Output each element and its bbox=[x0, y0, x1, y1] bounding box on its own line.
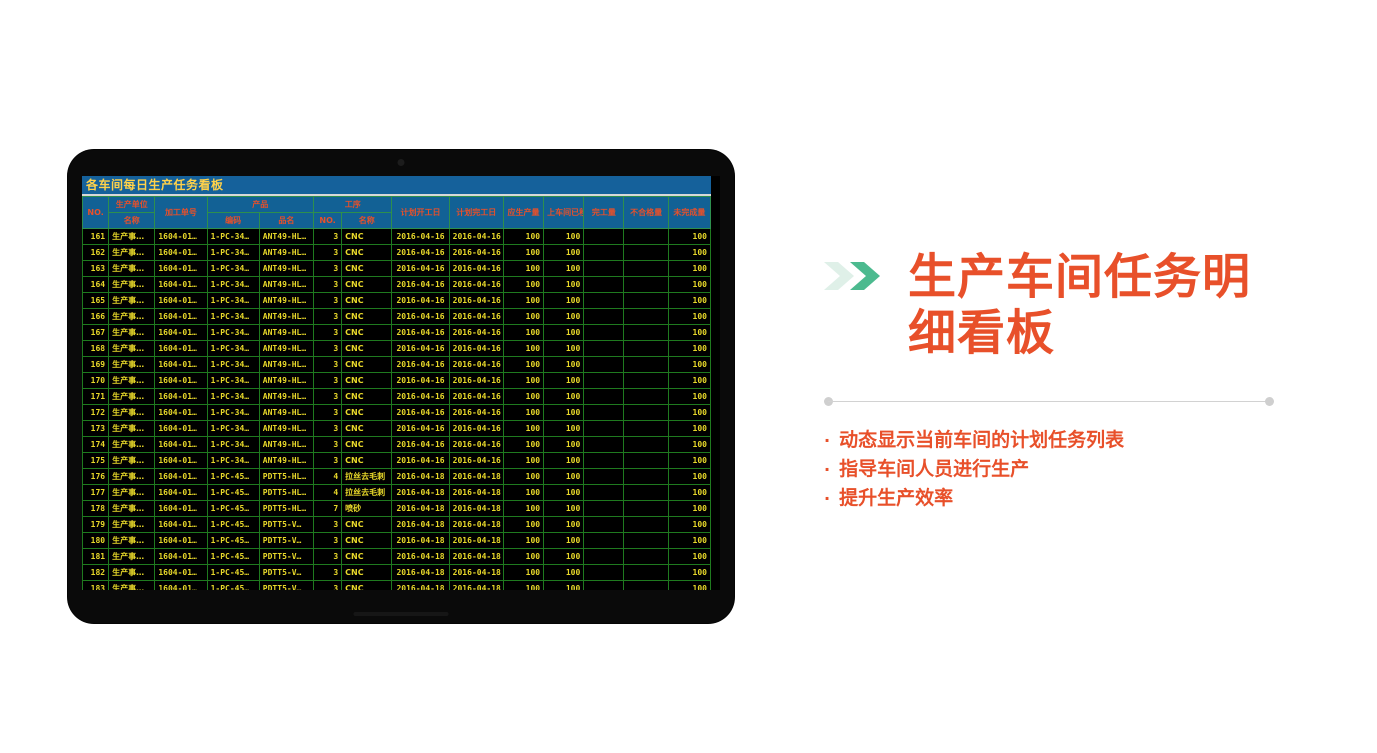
col-plan-end-date: 计划完工日 bbox=[449, 197, 503, 229]
cell-product-code: 1-PC-34… bbox=[207, 261, 259, 277]
list-item-label: 提升生产效率 bbox=[839, 484, 953, 513]
cell-no: 174 bbox=[83, 437, 109, 453]
cell-product-name: ANT49-HL… bbox=[259, 261, 313, 277]
cell-unit-name: 生产事… bbox=[109, 565, 155, 581]
cell-process-name: CNC bbox=[342, 341, 392, 357]
cell-product-code: 1-PC-34… bbox=[207, 453, 259, 469]
table-row[interactable]: 164生产事…1604-01…1-PC-34…ANT49-HL…3CNC2016… bbox=[83, 277, 711, 293]
cell-plan-end-date: 2016-04-16 bbox=[449, 341, 503, 357]
cell-completed-qty bbox=[584, 325, 624, 341]
cell-plan-end-date: 2016-04-16 bbox=[449, 357, 503, 373]
cell-planned-qty: 100 bbox=[503, 453, 543, 469]
cell-no: 179 bbox=[83, 517, 109, 533]
cell-unit-name: 生产事… bbox=[109, 389, 155, 405]
cell-product-name: ANT49-HL… bbox=[259, 325, 313, 341]
cell-defect-qty bbox=[624, 389, 668, 405]
cell-process-name: CNC bbox=[342, 325, 392, 341]
cell-transferred-qty: 100 bbox=[544, 421, 584, 437]
cell-plan-start-date: 2016-04-18 bbox=[392, 549, 449, 565]
camera-dot-icon bbox=[398, 159, 405, 166]
cell-unit-name: 生产事… bbox=[109, 533, 155, 549]
cell-unit-name: 生产事… bbox=[109, 229, 155, 245]
cell-product-code: 1-PC-34… bbox=[207, 309, 259, 325]
cell-unit-name: 生产事… bbox=[109, 293, 155, 309]
cell-no: 161 bbox=[83, 229, 109, 245]
kanban-app: 各车间每日生产任务看板 NO. 生产单位 加工单号 产品 工序 bbox=[82, 176, 711, 590]
cell-planned-qty: 100 bbox=[503, 421, 543, 437]
cell-process-no: 3 bbox=[314, 357, 342, 373]
cell-plan-end-date: 2016-04-18 bbox=[449, 517, 503, 533]
cell-remaining-qty: 100 bbox=[668, 453, 710, 469]
cell-transferred-qty: 100 bbox=[544, 357, 584, 373]
table-row[interactable]: 173生产事…1604-01…1-PC-34…ANT49-HL…3CNC2016… bbox=[83, 421, 711, 437]
cell-process-name: 喷砂 bbox=[342, 501, 392, 517]
cell-defect-qty bbox=[624, 245, 668, 261]
cell-process-name: CNC bbox=[342, 421, 392, 437]
cell-transferred-qty: 100 bbox=[544, 517, 584, 533]
cell-plan-end-date: 2016-04-18 bbox=[449, 485, 503, 501]
cell-plan-end-date: 2016-04-16 bbox=[449, 245, 503, 261]
cell-defect-qty bbox=[624, 261, 668, 277]
cell-transferred-qty: 100 bbox=[544, 485, 584, 501]
cell-transferred-qty: 100 bbox=[544, 549, 584, 565]
cell-remaining-qty: 100 bbox=[668, 245, 710, 261]
cell-unit-name: 生产事… bbox=[109, 341, 155, 357]
col-unit-group: 生产单位 bbox=[109, 197, 155, 213]
cell-process-no: 3 bbox=[314, 437, 342, 453]
cell-planned-qty: 100 bbox=[503, 245, 543, 261]
cell-unit-name: 生产事… bbox=[109, 373, 155, 389]
cell-plan-start-date: 2016-04-18 bbox=[392, 485, 449, 501]
cell-plan-end-date: 2016-04-16 bbox=[449, 229, 503, 245]
cell-plan-start-date: 2016-04-16 bbox=[392, 309, 449, 325]
table-row[interactable]: 166生产事…1604-01…1-PC-34…ANT49-HL…3CNC2016… bbox=[83, 309, 711, 325]
cell-completed-qty bbox=[584, 565, 624, 581]
cell-unit-name: 生产事… bbox=[109, 485, 155, 501]
cell-planned-qty: 100 bbox=[503, 341, 543, 357]
cell-transferred-qty: 100 bbox=[544, 453, 584, 469]
cell-plan-end-date: 2016-04-16 bbox=[449, 405, 503, 421]
cell-process-no: 3 bbox=[314, 373, 342, 389]
cell-planned-qty: 100 bbox=[503, 261, 543, 277]
cell-product-code: 1-PC-34… bbox=[207, 325, 259, 341]
cell-completed-qty bbox=[584, 373, 624, 389]
cell-no: 181 bbox=[83, 549, 109, 565]
cell-plan-start-date: 2016-04-16 bbox=[392, 373, 449, 389]
bullet-dot-icon: · bbox=[824, 458, 830, 482]
cell-completed-qty bbox=[584, 341, 624, 357]
list-item-label: 动态显示当前车间的计划任务列表 bbox=[839, 426, 1124, 455]
cell-plan-start-date: 2016-04-18 bbox=[392, 533, 449, 549]
cell-product-name: ANT49-HL… bbox=[259, 453, 313, 469]
cell-plan-start-date: 2016-04-18 bbox=[392, 517, 449, 533]
cell-defect-qty bbox=[624, 485, 668, 501]
cell-remaining-qty: 100 bbox=[668, 485, 710, 501]
cell-process-no: 3 bbox=[314, 229, 342, 245]
cell-transferred-qty: 100 bbox=[544, 581, 584, 591]
cell-no: 170 bbox=[83, 373, 109, 389]
cell-no: 176 bbox=[83, 469, 109, 485]
cell-plan-end-date: 2016-04-18 bbox=[449, 581, 503, 591]
cell-product-name: ANT49-HL… bbox=[259, 373, 313, 389]
tablet-device: 各车间每日生产任务看板 NO. 生产单位 加工单号 产品 工序 bbox=[68, 150, 734, 623]
cell-plan-start-date: 2016-04-18 bbox=[392, 469, 449, 485]
cell-work-order: 1604-01… bbox=[155, 437, 207, 453]
cell-planned-qty: 100 bbox=[503, 501, 543, 517]
table-row[interactable]: 172生产事…1604-01…1-PC-34…ANT49-HL…3CNC2016… bbox=[83, 405, 711, 421]
page-title: 生产车间任务明细看板 bbox=[908, 250, 1294, 361]
cell-transferred-qty: 100 bbox=[544, 437, 584, 453]
cell-completed-qty bbox=[584, 261, 624, 277]
cell-unit-name: 生产事… bbox=[109, 245, 155, 261]
cell-work-order: 1604-01… bbox=[155, 453, 207, 469]
cell-plan-end-date: 2016-04-16 bbox=[449, 325, 503, 341]
cell-product-code: 1-PC-34… bbox=[207, 389, 259, 405]
table-row[interactable]: 170生产事…1604-01…1-PC-34…ANT49-HL…3CNC2016… bbox=[83, 373, 711, 389]
cell-plan-start-date: 2016-04-16 bbox=[392, 341, 449, 357]
cell-no: 162 bbox=[83, 245, 109, 261]
cell-product-code: 1-PC-45… bbox=[207, 517, 259, 533]
cell-completed-qty bbox=[584, 469, 624, 485]
cell-planned-qty: 100 bbox=[503, 293, 543, 309]
cell-no: 172 bbox=[83, 405, 109, 421]
cell-process-no: 3 bbox=[314, 581, 342, 591]
col-process-no: NO. bbox=[314, 213, 342, 229]
cell-plan-end-date: 2016-04-16 bbox=[449, 437, 503, 453]
cell-defect-qty bbox=[624, 373, 668, 389]
col-no: NO. bbox=[83, 197, 109, 229]
cell-planned-qty: 100 bbox=[503, 485, 543, 501]
cell-remaining-qty: 100 bbox=[668, 405, 710, 421]
cell-transferred-qty: 100 bbox=[544, 277, 584, 293]
cell-plan-start-date: 2016-04-16 bbox=[392, 293, 449, 309]
cell-remaining-qty: 100 bbox=[668, 389, 710, 405]
table-row[interactable]: 163生产事…1604-01…1-PC-34…ANT49-HL…3CNC2016… bbox=[83, 261, 711, 277]
header-row-group: NO. 生产单位 加工单号 产品 工序 计划开工日 计划完工日 应生产量 上车间… bbox=[83, 197, 711, 213]
cell-plan-end-date: 2016-04-18 bbox=[449, 501, 503, 517]
cell-defect-qty bbox=[624, 453, 668, 469]
cell-work-order: 1604-01… bbox=[155, 533, 207, 549]
cell-unit-name: 生产事… bbox=[109, 549, 155, 565]
cell-process-name: CNC bbox=[342, 373, 392, 389]
cell-completed-qty bbox=[584, 421, 624, 437]
cell-process-name: CNC bbox=[342, 405, 392, 421]
table-row[interactable]: 168生产事…1604-01…1-PC-34…ANT49-HL…3CNC2016… bbox=[83, 341, 711, 357]
cell-planned-qty: 100 bbox=[503, 357, 543, 373]
cell-transferred-qty: 100 bbox=[544, 293, 584, 309]
cell-process-name: CNC bbox=[342, 261, 392, 277]
home-indicator bbox=[354, 612, 449, 616]
cell-completed-qty bbox=[584, 229, 624, 245]
cell-plan-end-date: 2016-04-16 bbox=[449, 293, 503, 309]
cell-transferred-qty: 100 bbox=[544, 373, 584, 389]
cell-unit-name: 生产事… bbox=[109, 261, 155, 277]
cell-unit-name: 生产事… bbox=[109, 421, 155, 437]
cell-completed-qty bbox=[584, 293, 624, 309]
cell-transferred-qty: 100 bbox=[544, 565, 584, 581]
cell-plan-end-date: 2016-04-16 bbox=[449, 309, 503, 325]
cell-no: 165 bbox=[83, 293, 109, 309]
cell-unit-name: 生产事… bbox=[109, 437, 155, 453]
cell-process-no: 3 bbox=[314, 293, 342, 309]
cell-work-order: 1604-01… bbox=[155, 405, 207, 421]
cell-completed-qty bbox=[584, 405, 624, 421]
cell-work-order: 1604-01… bbox=[155, 293, 207, 309]
cell-process-no: 3 bbox=[314, 389, 342, 405]
cell-transferred-qty: 100 bbox=[544, 533, 584, 549]
table-row[interactable]: 183生产事…1604-01…1-PC-45…PDTT5-V…3CNC2016-… bbox=[83, 581, 711, 591]
cell-remaining-qty: 100 bbox=[668, 341, 710, 357]
cell-transferred-qty: 100 bbox=[544, 341, 584, 357]
cell-work-order: 1604-01… bbox=[155, 325, 207, 341]
cell-planned-qty: 100 bbox=[503, 533, 543, 549]
kanban-titlebar: 各车间每日生产任务看板 bbox=[82, 176, 711, 196]
cell-product-code: 1-PC-34… bbox=[207, 341, 259, 357]
cell-planned-qty: 100 bbox=[503, 325, 543, 341]
cell-defect-qty bbox=[624, 533, 668, 549]
cell-defect-qty bbox=[624, 517, 668, 533]
cell-planned-qty: 100 bbox=[503, 309, 543, 325]
divider-dot-right bbox=[1265, 397, 1274, 406]
cell-planned-qty: 100 bbox=[503, 549, 543, 565]
table-body: 161生产事…1604-01…1-PC-34…ANT49-HL…3CNC2016… bbox=[83, 229, 711, 591]
cell-work-order: 1604-01… bbox=[155, 341, 207, 357]
cell-product-code: 1-PC-34… bbox=[207, 405, 259, 421]
table-row[interactable]: 180生产事…1604-01…1-PC-45…PDTT5-V…3CNC2016-… bbox=[83, 533, 711, 549]
cell-remaining-qty: 100 bbox=[668, 549, 710, 565]
cell-work-order: 1604-01… bbox=[155, 357, 207, 373]
cell-work-order: 1604-01… bbox=[155, 309, 207, 325]
cell-transferred-qty: 100 bbox=[544, 309, 584, 325]
cell-no: 171 bbox=[83, 389, 109, 405]
cell-no: 182 bbox=[83, 565, 109, 581]
cell-planned-qty: 100 bbox=[503, 229, 543, 245]
cell-plan-end-date: 2016-04-16 bbox=[449, 453, 503, 469]
col-unit-name: 名称 bbox=[109, 213, 155, 229]
cell-process-name: CNC bbox=[342, 565, 392, 581]
cell-transferred-qty: 100 bbox=[544, 501, 584, 517]
cell-defect-qty bbox=[624, 293, 668, 309]
cell-defect-qty bbox=[624, 229, 668, 245]
cell-process-no: 3 bbox=[314, 421, 342, 437]
cell-process-no: 4 bbox=[314, 485, 342, 501]
cell-process-no: 3 bbox=[314, 341, 342, 357]
cell-no: 177 bbox=[83, 485, 109, 501]
cell-process-name: CNC bbox=[342, 389, 392, 405]
list-item: ·提升生产效率 bbox=[824, 484, 1294, 513]
cell-work-order: 1604-01… bbox=[155, 421, 207, 437]
cell-transferred-qty: 100 bbox=[544, 245, 584, 261]
cell-product-name: PDTT5-HL… bbox=[259, 485, 313, 501]
table-row[interactable]: 176生产事…1604-01…1-PC-45…PDTT5-HL…4拉丝去毛刺20… bbox=[83, 469, 711, 485]
cell-process-name: CNC bbox=[342, 293, 392, 309]
cell-process-no: 3 bbox=[314, 405, 342, 421]
cell-plan-end-date: 2016-04-18 bbox=[449, 565, 503, 581]
cell-process-name: 拉丝去毛刺 bbox=[342, 469, 392, 485]
table-row[interactable]: 181生产事…1604-01…1-PC-45…PDTT5-V…3CNC2016-… bbox=[83, 549, 711, 565]
col-product-name: 品名 bbox=[259, 213, 313, 229]
cell-product-code: 1-PC-45… bbox=[207, 549, 259, 565]
cell-product-name: ANT49-HL… bbox=[259, 229, 313, 245]
production-task-table: NO. 生产单位 加工单号 产品 工序 计划开工日 计划完工日 应生产量 上车间… bbox=[82, 196, 711, 590]
cell-plan-end-date: 2016-04-16 bbox=[449, 421, 503, 437]
cell-defect-qty bbox=[624, 405, 668, 421]
cell-product-code: 1-PC-34… bbox=[207, 373, 259, 389]
cell-process-no: 3 bbox=[314, 517, 342, 533]
cell-remaining-qty: 100 bbox=[668, 229, 710, 245]
cell-work-order: 1604-01… bbox=[155, 485, 207, 501]
cell-completed-qty bbox=[584, 309, 624, 325]
cell-product-code: 1-PC-34… bbox=[207, 293, 259, 309]
cell-unit-name: 生产事… bbox=[109, 501, 155, 517]
cell-completed-qty bbox=[584, 581, 624, 591]
cell-plan-start-date: 2016-04-16 bbox=[392, 405, 449, 421]
cell-unit-name: 生产事… bbox=[109, 453, 155, 469]
table-row[interactable]: 165生产事…1604-01…1-PC-34…ANT49-HL…3CNC2016… bbox=[83, 293, 711, 309]
feature-bullet-list: ·动态显示当前车间的计划任务列表·指导车间人员进行生产·提升生产效率 bbox=[824, 426, 1294, 513]
cell-process-name: CNC bbox=[342, 309, 392, 325]
bullet-dot-icon: · bbox=[824, 487, 830, 511]
cell-process-no: 3 bbox=[314, 565, 342, 581]
cell-product-code: 1-PC-45… bbox=[207, 501, 259, 517]
cell-product-code: 1-PC-45… bbox=[207, 565, 259, 581]
cell-unit-name: 生产事… bbox=[109, 469, 155, 485]
cell-planned-qty: 100 bbox=[503, 565, 543, 581]
divider-line bbox=[828, 401, 1270, 402]
cell-plan-end-date: 2016-04-16 bbox=[449, 373, 503, 389]
cell-transferred-qty: 100 bbox=[544, 261, 584, 277]
cell-defect-qty bbox=[624, 277, 668, 293]
cell-transferred-qty: 100 bbox=[544, 469, 584, 485]
cell-product-code: 1-PC-34… bbox=[207, 357, 259, 373]
cell-plan-end-date: 2016-04-18 bbox=[449, 533, 503, 549]
cell-unit-name: 生产事… bbox=[109, 309, 155, 325]
cell-work-order: 1604-01… bbox=[155, 565, 207, 581]
list-item-label: 指导车间人员进行生产 bbox=[839, 455, 1029, 484]
table-row[interactable]: 177生产事…1604-01…1-PC-45…PDTT5-HL…4拉丝去毛刺20… bbox=[83, 485, 711, 501]
table-row[interactable]: 171生产事…1604-01…1-PC-34…ANT49-HL…3CNC2016… bbox=[83, 389, 711, 405]
cell-process-name: CNC bbox=[342, 453, 392, 469]
table-header: NO. 生产单位 加工单号 产品 工序 计划开工日 计划完工日 应生产量 上车间… bbox=[83, 197, 711, 229]
cell-product-name: ANT49-HL… bbox=[259, 277, 313, 293]
cell-planned-qty: 100 bbox=[503, 373, 543, 389]
cell-work-order: 1604-01… bbox=[155, 261, 207, 277]
cell-process-name: CNC bbox=[342, 245, 392, 261]
cell-completed-qty bbox=[584, 485, 624, 501]
cell-process-name: CNC bbox=[342, 549, 392, 565]
cell-remaining-qty: 100 bbox=[668, 373, 710, 389]
table-row[interactable]: 179生产事…1604-01…1-PC-45…PDTT5-V…3CNC2016-… bbox=[83, 517, 711, 533]
cell-product-name: ANT49-HL… bbox=[259, 389, 313, 405]
col-defect-qty: 不合格量 bbox=[624, 197, 668, 229]
cell-work-order: 1604-01… bbox=[155, 373, 207, 389]
cell-unit-name: 生产事… bbox=[109, 581, 155, 591]
cell-unit-name: 生产事… bbox=[109, 517, 155, 533]
cell-process-name: CNC bbox=[342, 517, 392, 533]
cell-plan-start-date: 2016-04-16 bbox=[392, 277, 449, 293]
cell-defect-qty bbox=[624, 469, 668, 485]
table-row[interactable]: 174生产事…1604-01…1-PC-34…ANT49-HL…3CNC2016… bbox=[83, 437, 711, 453]
table-row[interactable]: 175生产事…1604-01…1-PC-34…ANT49-HL…3CNC2016… bbox=[83, 453, 711, 469]
col-process-name: 名称 bbox=[342, 213, 392, 229]
cell-remaining-qty: 100 bbox=[668, 501, 710, 517]
cell-no: 180 bbox=[83, 533, 109, 549]
cell-product-name: PDTT5-V… bbox=[259, 549, 313, 565]
cell-completed-qty bbox=[584, 517, 624, 533]
cell-completed-qty bbox=[584, 437, 624, 453]
cell-product-name: ANT49-HL… bbox=[259, 309, 313, 325]
cell-no: 178 bbox=[83, 501, 109, 517]
table-row[interactable]: 162生产事…1604-01…1-PC-34…ANT49-HL…3CNC2016… bbox=[83, 245, 711, 261]
cell-remaining-qty: 100 bbox=[668, 277, 710, 293]
cell-process-name: CNC bbox=[342, 581, 392, 591]
cell-process-name: CNC bbox=[342, 357, 392, 373]
cell-completed-qty bbox=[584, 501, 624, 517]
cell-product-code: 1-PC-34… bbox=[207, 277, 259, 293]
cell-remaining-qty: 100 bbox=[668, 293, 710, 309]
table-row[interactable]: 167生产事…1604-01…1-PC-34…ANT49-HL…3CNC2016… bbox=[83, 325, 711, 341]
table-row[interactable]: 182生产事…1604-01…1-PC-45…PDTT5-V…3CNC2016-… bbox=[83, 565, 711, 581]
cell-unit-name: 生产事… bbox=[109, 277, 155, 293]
cell-product-name: PDTT5-HL… bbox=[259, 501, 313, 517]
content-panel: 生产车间任务明细看板 ·动态显示当前车间的计划任务列表·指导车间人员进行生产·提… bbox=[824, 250, 1294, 513]
cell-remaining-qty: 100 bbox=[668, 325, 710, 341]
cell-planned-qty: 100 bbox=[503, 437, 543, 453]
col-transferred-qty: 上车间已移转量 bbox=[544, 197, 584, 229]
cell-process-name: CNC bbox=[342, 229, 392, 245]
cell-remaining-qty: 100 bbox=[668, 517, 710, 533]
cell-product-name: ANT49-HL… bbox=[259, 357, 313, 373]
cell-defect-qty bbox=[624, 325, 668, 341]
cell-product-code: 1-PC-45… bbox=[207, 469, 259, 485]
cell-completed-qty bbox=[584, 453, 624, 469]
col-completed-qty: 完工量 bbox=[584, 197, 624, 229]
list-item: ·指导车间人员进行生产 bbox=[824, 455, 1294, 484]
cell-product-name: ANT49-HL… bbox=[259, 437, 313, 453]
table-row[interactable]: 178生产事…1604-01…1-PC-45…PDTT5-HL…7喷砂2016-… bbox=[83, 501, 711, 517]
col-planned-qty: 应生产量 bbox=[503, 197, 543, 229]
cell-work-order: 1604-01… bbox=[155, 501, 207, 517]
cell-work-order: 1604-01… bbox=[155, 229, 207, 245]
cell-plan-start-date: 2016-04-16 bbox=[392, 389, 449, 405]
cell-defect-qty bbox=[624, 565, 668, 581]
cell-plan-start-date: 2016-04-16 bbox=[392, 325, 449, 341]
cell-defect-qty bbox=[624, 341, 668, 357]
cell-plan-start-date: 2016-04-16 bbox=[392, 245, 449, 261]
bullet-dot-icon: · bbox=[824, 429, 830, 453]
table-row[interactable]: 161生产事…1604-01…1-PC-34…ANT49-HL…3CNC2016… bbox=[83, 229, 711, 245]
cell-defect-qty bbox=[624, 309, 668, 325]
cell-remaining-qty: 100 bbox=[668, 533, 710, 549]
cell-remaining-qty: 100 bbox=[668, 421, 710, 437]
col-process-group: 工序 bbox=[314, 197, 392, 213]
cell-transferred-qty: 100 bbox=[544, 229, 584, 245]
cell-product-name: PDTT5-V… bbox=[259, 581, 313, 591]
cell-remaining-qty: 100 bbox=[668, 581, 710, 591]
cell-product-name: PDTT5-V… bbox=[259, 565, 313, 581]
cell-product-code: 1-PC-34… bbox=[207, 245, 259, 261]
cell-work-order: 1604-01… bbox=[155, 277, 207, 293]
cell-planned-qty: 100 bbox=[503, 581, 543, 591]
cell-plan-end-date: 2016-04-18 bbox=[449, 469, 503, 485]
divider bbox=[824, 397, 1274, 406]
cell-process-no: 3 bbox=[314, 245, 342, 261]
cell-completed-qty bbox=[584, 533, 624, 549]
cell-product-name: ANT49-HL… bbox=[259, 293, 313, 309]
cell-process-no: 4 bbox=[314, 469, 342, 485]
cell-defect-qty bbox=[624, 421, 668, 437]
table-row[interactable]: 169生产事…1604-01…1-PC-34…ANT49-HL…3CNC2016… bbox=[83, 357, 711, 373]
